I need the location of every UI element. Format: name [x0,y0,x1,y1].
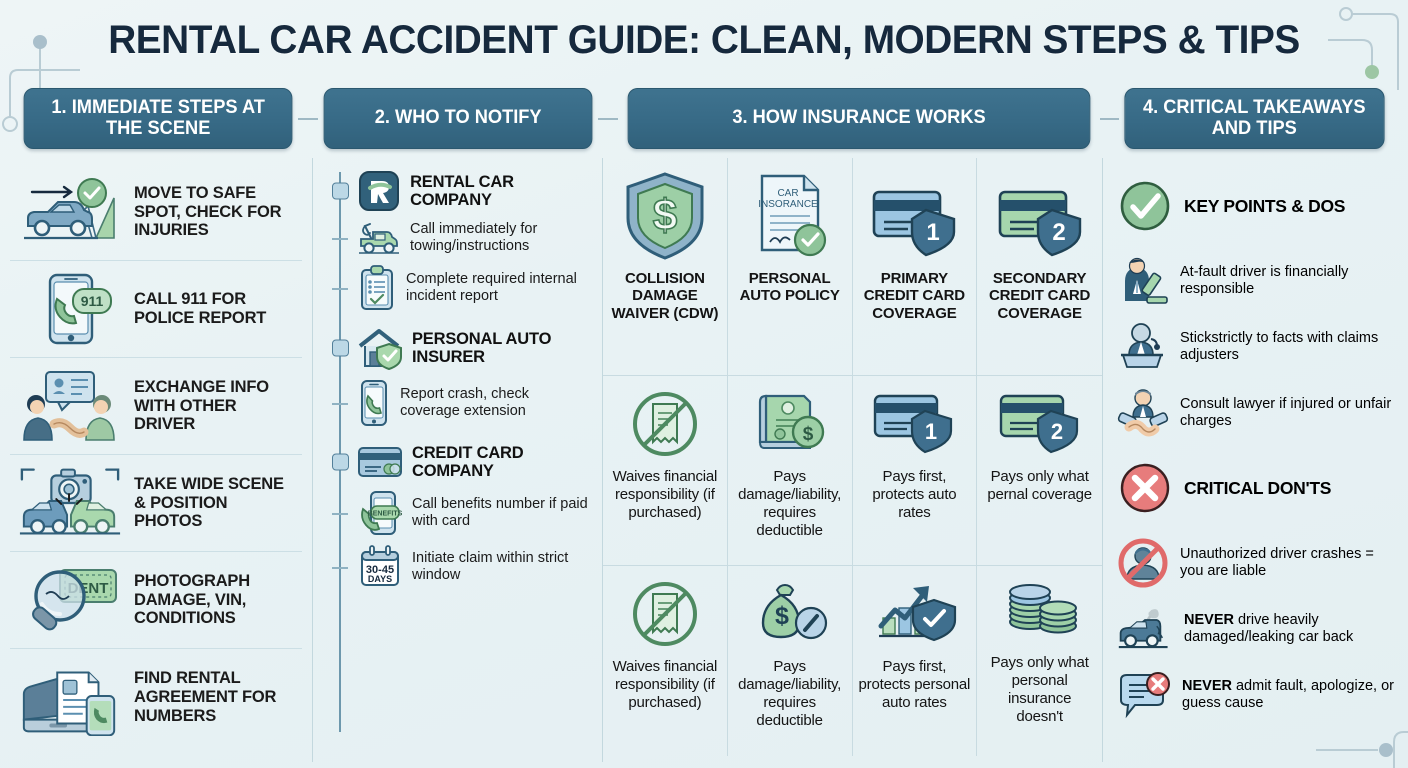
insurance-cell-text: Pays only what personal insurance doesn'… [983,654,1096,726]
insurance-cell-text: Pays first, protects auto rates [859,468,971,522]
car-move-to-shoulder-icon [16,176,124,248]
phone-call-icon [357,378,391,428]
insurance-header-secondary-cc[interactable]: 2 SECONDARY CREDIT CARD COVERAGE [977,158,1102,376]
insurance-cell-text: Pays damage/liability, requires deductib… [734,468,846,540]
svg-text:2: 2 [1052,219,1065,246]
no-unauthorized-driver-icon [1117,537,1169,589]
notify-group-header[interactable]: CREDIT CARD COMPANY [357,444,592,481]
list-item[interactable]: EXCHANGE INFO WITH OTHER DRIVER [10,358,302,455]
rental-company-logo-icon [357,170,401,212]
insurance-header-primary-cc[interactable]: 1 PRIMARY CREDIT CARD COVERAGE [853,158,978,376]
timeline-stub [332,238,348,240]
column-who-to-notify: RENTAL CAR COMPANY Call immediately f [312,158,602,762]
list-item-label: CALL 911 FOR POLICE REPORT [134,290,296,328]
house-shield-icon [357,326,403,370]
never-prefix: NEVER [1182,678,1232,694]
insurance-header-label: PRIMARY CREDIT CARD COVERAGE [859,270,971,322]
insurance-header-label: SECONDARY CREDIT CARD COVERAGE [983,270,1096,322]
exchange-info-handshake-icon [16,366,124,446]
takeaway-text: NEVER admit fault, apologize, or guess c… [1182,678,1394,713]
notify-subitem-text: Call immediately for towing/instructions [410,221,592,255]
takeaway-item[interactable]: NEVER drive heavily damaged/leaking car … [1113,596,1398,662]
insurance-header-personal-auto[interactable]: CAR INSORANCE PERSONAL AUTO POLICY [728,158,853,376]
notify-group-header[interactable]: PERSONAL AUTO INSURER [357,326,592,370]
list-item[interactable]: TAKE WIDE SCENE & POSITION PHOTOS [10,455,302,552]
takeaway-text: Unauthorized driver crashes = you are li… [1180,546,1394,581]
insurance-cell[interactable]: $ Pays damage/liability, requires deduct… [728,566,853,756]
list-item-label: EXCHANGE INFO WITH OTHER DRIVER [134,378,296,435]
clipboard-report-icon [357,264,397,312]
credit-card-shield-1-icon: 1 [871,388,957,460]
insurance-cell[interactable]: Pays only what personal insurance doesn'… [977,566,1102,756]
smoking-damaged-car-icon [1117,604,1173,654]
insurance-cell[interactable]: Waives financial responsibility (if purc… [603,376,728,566]
list-item[interactable]: MOVE TO SAFE SPOT, CHECK FOR INJURIES [10,164,302,261]
takeaway-text: NEVER drive heavily damaged/leaking car … [1184,612,1394,647]
rental-agreement-phone-icon [16,660,124,736]
list-item-label: TAKE WIDE SCENE & POSITION PHOTOS [134,475,296,532]
speech-bubble-x-icon [1117,670,1171,720]
insurance-cell-text: Pays first, protects personal auto rates [859,658,971,712]
dos-header-label: KEY POINTS & DOS [1184,196,1345,217]
svg-text:DAYS: DAYS [368,574,392,584]
x-circle-icon [1117,462,1173,514]
magnifier-dent-plate-icon: DENT [16,560,124,640]
svg-text:911: 911 [81,293,104,309]
list-item[interactable]: FIND RENTAL AGREEMENT FOR NUMBERS [10,649,302,746]
column-how-insurance-works: $ COLLISION DAMAGE WAIVER (CDW) CAR INSO… [602,158,1102,762]
timeline-node [332,183,349,200]
timeline-node [332,454,349,471]
list-item[interactable]: 911 CALL 911 FOR POLICE REPORT [10,261,302,358]
insurance-cell-text: Pays only what pernal coverage [983,468,1096,504]
notify-group-label: RENTAL CAR COMPANY [410,173,592,210]
no-receipt-icon [629,388,701,460]
phone-911-call-icon: 911 [16,269,124,349]
phone-benefits-call-icon: BENEFITS [357,489,403,537]
dos-section-header[interactable]: KEY POINTS & DOS [1113,164,1398,248]
svg-text:$: $ [653,191,677,240]
list-item-label: MOVE TO SAFE SPOT, CHECK FOR INJURIES [134,184,296,241]
document-coin-icon: $ [752,388,828,460]
svg-text:BENEFITS: BENEFITS [368,510,403,517]
notify-subitem-text: Report crash, check coverage extension [400,386,592,420]
list-item[interactable]: DENT PHOTOGRAPH DAMAGE, VIN, CONDITIONS [10,552,302,649]
insurance-comparison-grid: $ COLLISION DAMAGE WAIVER (CDW) CAR INSO… [603,158,1102,762]
takeaway-item[interactable]: Unauthorized driver crashes = you are li… [1113,530,1398,596]
svg-text:1: 1 [927,219,940,246]
list-item-label: FIND RENTAL AGREEMENT FOR NUMBERS [134,669,296,726]
takeaway-text: Consult lawyer if injured or unfair char… [1180,396,1394,431]
tab-connector [598,88,618,149]
list-item-label: PHOTOGRAPH DAMAGE, VIN, CONDITIONS [134,572,296,629]
notify-subitem[interactable]: Call immediately for towing/instructions [357,220,592,256]
notify-subitem[interactable]: 30-45 DAYS Initiate claim within strict … [357,545,592,589]
coin-stacks-icon [1002,578,1078,646]
takeaway-text: Stickstrictly to facts with claims adjus… [1180,330,1394,365]
column-immediate-steps: MOVE TO SAFE SPOT, CHECK FOR INJURIES 91… [0,158,312,762]
tab-how-insurance-works[interactable]: 3. HOW INSURANCE WORKS [627,88,1090,149]
notify-group-header[interactable]: RENTAL CAR COMPANY [357,170,592,212]
svg-text:$: $ [775,602,789,630]
timeline-stub [332,403,348,405]
timeline-node [332,340,349,357]
shield-dollar-icon: $ [622,170,708,262]
notify-subitem-text: Complete required internal incident repo… [406,271,592,305]
takeaway-item[interactable]: Stickstrictly to facts with claims adjus… [1113,314,1398,380]
timeline-stub [332,567,348,569]
insurance-cell[interactable]: $ Pays damage/liability, requires deduct… [728,376,853,566]
svg-text:CAR: CAR [777,188,798,199]
takeaway-text: At-fault driver is financially responsib… [1180,264,1394,299]
notify-group-label: PERSONAL AUTO INSURER [412,330,592,367]
takeaway-item[interactable]: At-fault driver is financially responsib… [1113,248,1398,314]
notify-subitem[interactable]: BENEFITS Call benefits number if paid wi… [357,489,592,537]
svg-text:$: $ [802,424,813,445]
podium-speaker-icon [1117,321,1169,373]
tab-connector [298,88,318,149]
insurance-cell-text: Waives financial responsibility (if purc… [609,468,721,522]
tab-connector [1100,88,1120,149]
car-insurance-document-icon: CAR INSORANCE [748,170,832,262]
credit-card-shield-2-icon: 2 [997,388,1083,460]
notify-group-label: CREDIT CARD COMPANY [412,444,592,481]
page-title: RENTAL CAR ACCIDENT GUIDE: CLEAN, MODERN… [21,18,1387,63]
check-circle-icon [1117,180,1173,232]
column-critical-takeaways: KEY POINTS & DOS At-fault driver is fina… [1102,158,1408,762]
svg-text:INSORANCE: INSORANCE [758,199,818,210]
svg-text:2: 2 [1051,419,1063,444]
donts-section-header[interactable]: CRITICAL DON'TS [1113,446,1398,530]
insurance-cell-text: Pays damage/liability, requires deductib… [734,658,846,730]
insurance-cell[interactable]: 1 Pays first, protects auto rates [853,376,978,566]
timeline-stub [332,288,348,290]
money-bag-pen-icon: $ [751,578,829,650]
tab-critical-takeaways[interactable]: 4. CRITICAL TAKEAWAYS AND TIPS [1125,88,1385,149]
takeaway-item[interactable]: NEVER admit fault, apologize, or guess c… [1113,662,1398,728]
tab-immediate-steps[interactable]: 1. IMMEDIATE STEPS AT THE SCENE [24,88,293,149]
never-prefix: NEVER [1184,612,1234,628]
insurance-cell-text: Waives financial responsibility (if purc… [609,658,721,712]
takeaway-item[interactable]: Consult lawyer if injured or unfair char… [1113,380,1398,446]
insurance-cell[interactable]: Waives financial responsibility (if purc… [603,566,728,756]
donts-header-label: CRITICAL DON'TS [1184,478,1331,499]
notify-subitem-text: Call benefits number if paid with card [412,496,592,530]
insurance-header-cdw[interactable]: $ COLLISION DAMAGE WAIVER (CDW) [603,158,728,376]
judge-gavel-icon [1117,255,1169,307]
svg-text:1: 1 [925,419,937,444]
credit-card-shield-2-icon: 2 [994,170,1086,262]
insurance-cell[interactable]: 2 Pays only what pernal coverage [977,376,1102,566]
notify-subitem[interactable]: Complete required internal incident repo… [357,264,592,312]
insurance-cell[interactable]: Pays first, protects personal auto rates [853,566,978,756]
calendar-30-45-days-icon: 30-45 DAYS [357,545,403,589]
notify-subitem[interactable]: Report crash, check coverage extension [357,378,592,428]
notify-subitem-text: Initiate claim within strict window [412,550,592,584]
insurance-header-label: PERSONAL AUTO POLICY [734,270,846,305]
credit-card-icon [357,445,403,479]
insurance-header-label: COLLISION DAMAGE WAIVER (CDW) [609,270,721,322]
tow-truck-icon [357,220,401,256]
lawyer-handshake-icon [1117,387,1169,439]
tab-who-to-notify[interactable]: 2. WHO TO NOTIFY [324,88,593,149]
camera-crash-scene-icon [16,463,124,543]
section-tabs: 1. IMMEDIATE STEPS AT THE SCENE 2. WHO T… [18,88,1390,149]
credit-card-shield-1-icon: 1 [868,170,960,262]
timeline-stub [332,513,348,515]
rising-chart-shield-icon [871,578,957,650]
no-receipt-icon [629,578,701,650]
